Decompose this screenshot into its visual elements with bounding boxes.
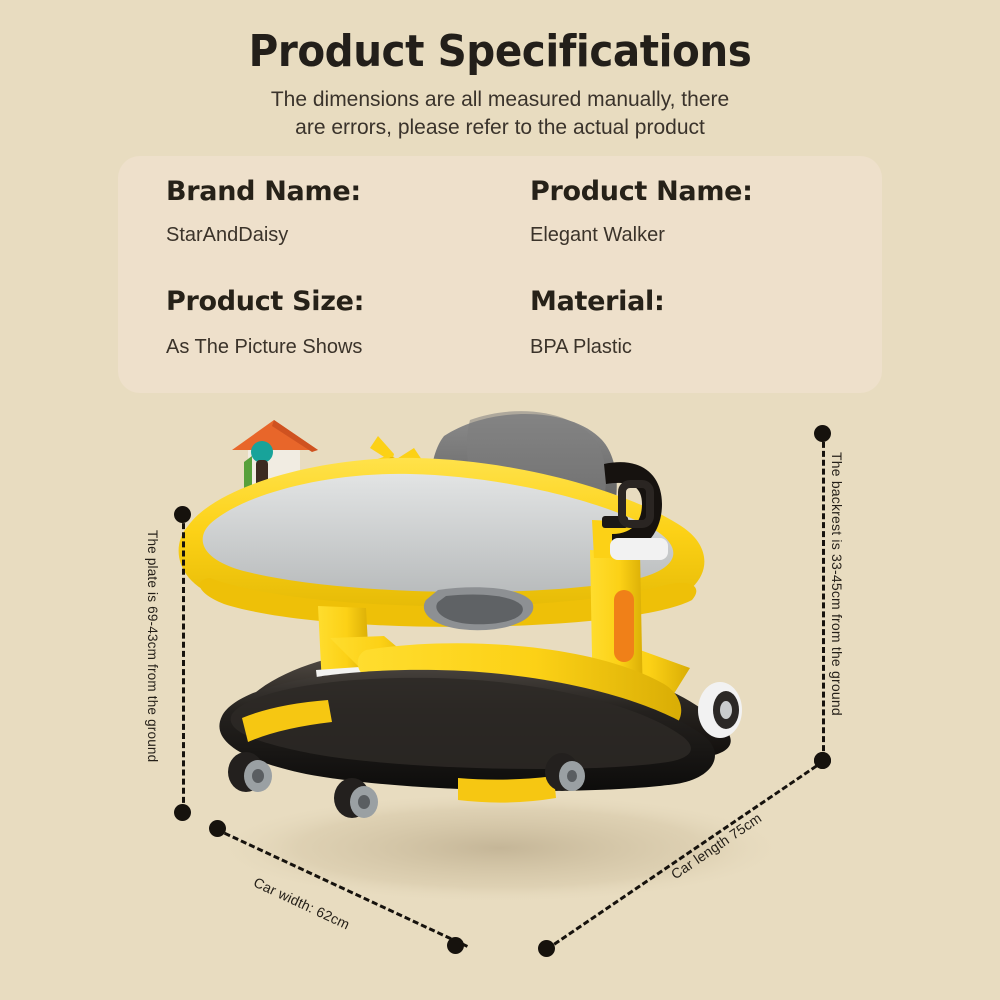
backrest-height-dot-top (814, 425, 831, 442)
wheel-rear-right-white (698, 682, 742, 738)
page-title: Product Specifications (40, 26, 960, 77)
car-length-dot-start (538, 940, 555, 957)
control-column-indicator (614, 590, 634, 662)
wheel-front-mid (334, 778, 378, 818)
plate-height-label: The plate is 69-43cm from the ground (145, 530, 160, 762)
backrest-height-label: The backrest is 33-45cm from the ground (829, 452, 845, 716)
subtitle-line-2: are errors, please refer to the actual p… (0, 114, 1000, 142)
plate-height-line (182, 514, 185, 812)
backrest-height-line (822, 433, 825, 760)
subtitle-line-1: The dimensions are all measured manually… (0, 86, 1000, 114)
specification-card: Brand Name: StarAndDaisy Product Size: A… (118, 156, 882, 393)
product-name-value: Elegant Walker (530, 224, 665, 247)
car-length-dot-end (814, 752, 831, 769)
page-subtitle: The dimensions are all measured manually… (0, 86, 1000, 142)
plate-height-dot-top (174, 506, 191, 523)
material-value: BPA Plastic (530, 336, 632, 359)
product-size-value: As The Picture Shows (166, 336, 362, 359)
brand-name-label: Brand Name: (166, 176, 361, 207)
product-size-label: Product Size: (166, 286, 364, 317)
bumper-pad-right (458, 776, 556, 803)
infographic-stage: Product Specifications The dimensions ar… (0, 0, 1000, 1000)
plate-height-dot-bottom (174, 804, 191, 821)
brand-name-value: StarAndDaisy (166, 224, 288, 247)
car-width-dot-end (447, 937, 464, 954)
product-name-label: Product Name: (530, 176, 753, 207)
material-label: Material: (530, 286, 664, 317)
car-width-dot-start (209, 820, 226, 837)
